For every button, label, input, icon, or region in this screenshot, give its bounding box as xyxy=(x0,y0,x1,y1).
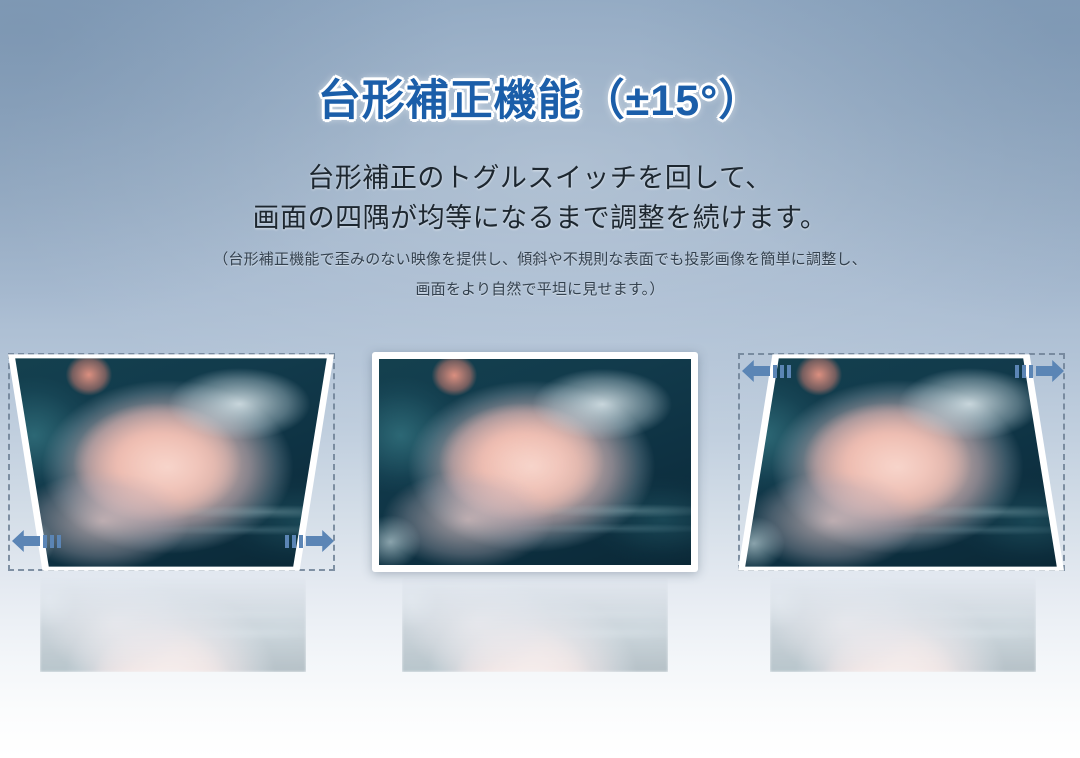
panel-keystone-top-narrow: ピンクの花 xyxy=(730,340,1076,590)
panel-photo-alt: ピンクの花 xyxy=(362,340,363,341)
flower-photo-reflection xyxy=(40,576,306,672)
panel-reflection xyxy=(770,576,1036,672)
projected-photo-frame xyxy=(743,358,1060,566)
panel-keystone-bottom-narrow: ピンクの花 xyxy=(0,340,346,590)
flower-photo xyxy=(13,358,330,566)
fineprint-line-1: （台形補正機能で歪みのない映像を提供し、傾斜や不規則な表面でも投影画像を簡単に調… xyxy=(0,248,1080,269)
panel-photo-alt: ピンクの花 xyxy=(730,340,731,341)
panel-reflection xyxy=(40,576,306,672)
panel-photo-alt: ピンクの花 xyxy=(0,340,1,341)
panel-reflection xyxy=(402,576,668,672)
flower-photo-reflection xyxy=(402,576,668,672)
fineprint-line-2: 画面をより自然で平坦に見せます。） xyxy=(0,278,1080,299)
promo-banner: 台形補正機能（±15°） 台形補正のトグルスイッチを回して、 画面の四隅が均等に… xyxy=(0,0,1080,758)
projection-screen xyxy=(4,351,338,574)
panel-row: ピンクの花 ピンクの花 xyxy=(0,340,1080,680)
projected-photo-frame xyxy=(379,359,691,565)
projection-screen xyxy=(734,351,1068,574)
panel-corrected-rectangle: ピンクの花 xyxy=(362,340,708,590)
subtitle-line-2: 画面の四隅が均等になるまで調整を続けます。 xyxy=(0,196,1080,235)
subtitle-line-1: 台形補正のトグルスイッチを回して、 xyxy=(0,156,1080,195)
projected-photo-frame xyxy=(13,358,330,566)
flower-photo-reflection xyxy=(770,576,1036,672)
flower-photo xyxy=(743,358,1060,566)
projection-screen xyxy=(372,352,698,572)
flower-photo xyxy=(379,359,691,565)
page-title: 台形補正機能（±15°） xyxy=(0,66,1080,128)
